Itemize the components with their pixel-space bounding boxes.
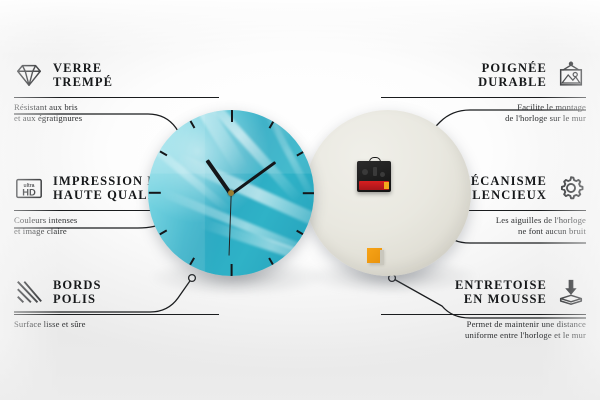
feature-subtitle: Surface lisse et sûre — [14, 319, 264, 330]
feature-header: VERRE TREMPÉ — [14, 55, 264, 95]
clock-front-view — [148, 110, 314, 276]
product-infographic: VERRE TREMPÉ Résistant aux bris et aux é… — [0, 0, 600, 400]
mechanism-body — [357, 161, 391, 192]
hour-marker-major — [149, 192, 232, 194]
feature-divider — [381, 314, 586, 315]
arrow-into-pad-icon — [556, 277, 586, 307]
ultra-hd-icon: ultra HD — [14, 173, 44, 203]
diagonal-lines-icon — [14, 277, 44, 307]
mechanism-detail — [362, 169, 368, 175]
clock-mechanism — [357, 158, 391, 192]
diamond-icon — [14, 60, 44, 90]
feature-divider — [381, 97, 586, 98]
svg-text:HD: HD — [22, 188, 36, 198]
feature-header: POIGNÉE DURABLE — [336, 55, 586, 95]
foam-spacer — [367, 248, 382, 263]
gear-icon — [556, 173, 586, 203]
mechanism-detail — [380, 172, 385, 177]
feature-subtitle: Permet de maintenir une distance uniform… — [336, 319, 586, 341]
clock-pivot — [228, 190, 234, 196]
feature-title: POIGNÉE DURABLE — [478, 61, 547, 89]
mechanism-detail — [373, 167, 377, 176]
feature-title: MÉCANISME SILENCIEUX — [458, 174, 547, 202]
feature-divider — [14, 97, 219, 98]
battery — [359, 181, 389, 190]
feature-divider — [14, 314, 219, 315]
clock-back-view — [305, 110, 471, 276]
feature-title: VERRE TREMPÉ — [53, 61, 113, 89]
picture-hanger-icon — [556, 60, 586, 90]
feature-title: BORDS POLIS — [53, 278, 102, 306]
hour-marker-major — [231, 110, 233, 193]
hour-marker-major — [232, 192, 314, 194]
